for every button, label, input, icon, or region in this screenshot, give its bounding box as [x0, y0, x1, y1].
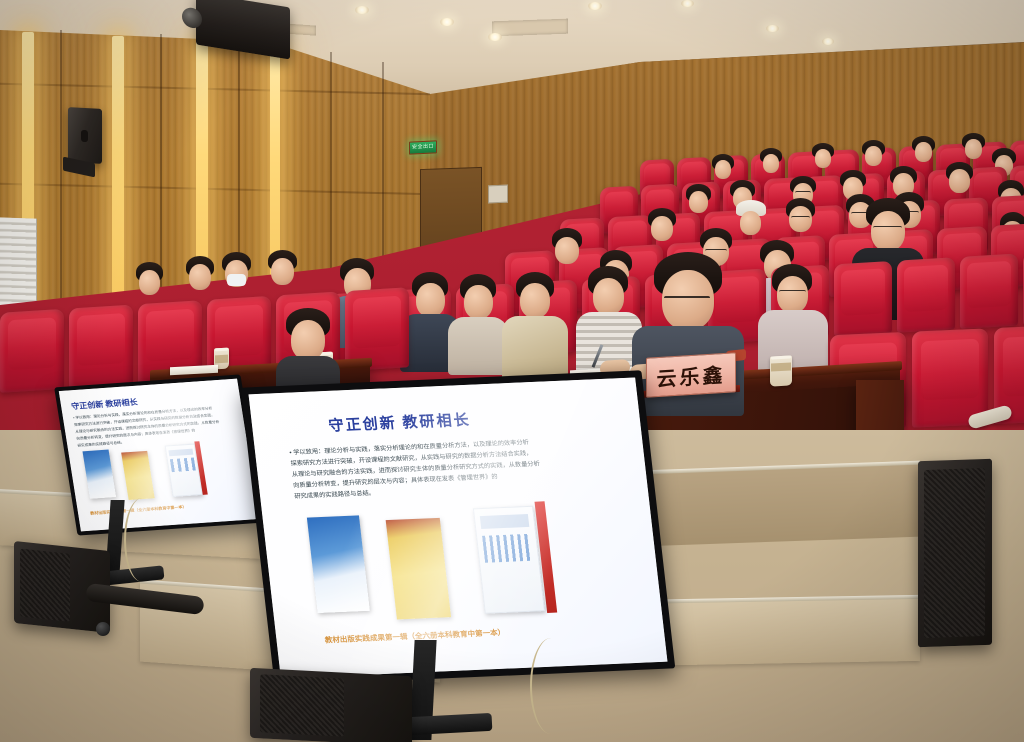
head	[740, 211, 761, 235]
speaker-grill	[924, 468, 985, 638]
slide-content: 守正创新 教研相长 • 学以致用：理论分析与实践，落实分析理论的和在质量分析方法…	[249, 377, 668, 678]
head	[291, 320, 325, 360]
speaker-caster	[96, 622, 110, 636]
glasses	[873, 226, 902, 231]
monitor-cable	[124, 498, 160, 582]
ceiling-downlight-4	[588, 2, 602, 10]
slide-content: 守正创新 教研相长 • 学以致用：理论分析与实践，落实分析理论的和在质量分析方法…	[59, 379, 259, 532]
seat	[960, 253, 1018, 328]
ceiling-downlight-1	[355, 6, 369, 14]
ceiling-downlight-2	[440, 18, 454, 26]
head	[949, 169, 970, 193]
head	[715, 160, 731, 179]
head	[871, 211, 905, 251]
glasses	[664, 296, 710, 302]
ceiling-downlight-5	[681, 0, 694, 7]
face-mask	[227, 274, 246, 286]
cup-band	[771, 362, 791, 371]
wall-led-strip-2	[112, 36, 124, 332]
head	[593, 278, 624, 315]
head	[464, 285, 493, 319]
monitor-screen: 守正创新 教研相长 • 学以致用：理论分析与实践，落实分析理论的和在质量分析方法…	[249, 377, 668, 678]
ceiling-vent-2	[492, 19, 568, 37]
head	[915, 142, 932, 162]
seat	[834, 261, 892, 336]
head	[139, 270, 160, 295]
wall-control-panel	[488, 185, 508, 204]
screen-glare	[249, 377, 668, 678]
head	[815, 149, 831, 168]
glasses	[705, 249, 727, 254]
wall-speaker	[68, 107, 102, 164]
glasses	[779, 290, 806, 295]
seat	[69, 304, 133, 388]
seat	[897, 257, 955, 332]
head	[763, 154, 779, 173]
head	[271, 258, 294, 285]
ceiling-downlight-7	[822, 38, 834, 45]
floor-monitor-speaker-center	[250, 668, 412, 742]
name-card: 云乐鑫	[646, 352, 736, 398]
glasses	[795, 191, 811, 196]
monitor-cable	[530, 638, 572, 734]
speaker-grill	[260, 674, 344, 737]
monitor-screen: 守正创新 教研相长 • 学以致用：理论分析与实践，落实分析理论的和在质量分析方法…	[59, 379, 259, 532]
name-card-text: 云乐鑫	[657, 358, 726, 391]
torso	[448, 317, 508, 375]
head	[689, 191, 708, 213]
head	[965, 139, 982, 159]
confidence-monitor-right[interactable]: 守正创新 教研相长 • 学以致用：理论分析与实践，落实分析理论的和在质量分析方法…	[241, 370, 676, 686]
screen-glare	[59, 379, 259, 532]
head	[555, 237, 579, 264]
glasses	[791, 216, 810, 221]
head	[189, 264, 211, 290]
wall-seam-1	[60, 30, 62, 342]
floor-monitor-speaker-right	[918, 459, 992, 648]
confidence-monitor-left[interactable]: 守正创新 教研相长 • 学以致用：理论分析与实践，落实分析理论的和在质量分析方法…	[54, 374, 264, 535]
speaker-grill	[20, 548, 70, 622]
ceiling-downlight-6	[766, 25, 779, 32]
torso	[502, 316, 568, 382]
cup-band	[215, 355, 228, 364]
exit-sign-label: 安全出口	[410, 141, 436, 152]
paper-cup	[770, 355, 792, 386]
head	[416, 283, 445, 317]
seat	[0, 309, 64, 393]
auditorium-photo: 安全出口	[0, 0, 1024, 742]
head	[865, 146, 882, 166]
head	[651, 216, 673, 241]
exit-sign: 安全出口	[409, 140, 437, 154]
head	[520, 283, 550, 318]
ceiling-downlight-3	[488, 33, 502, 41]
